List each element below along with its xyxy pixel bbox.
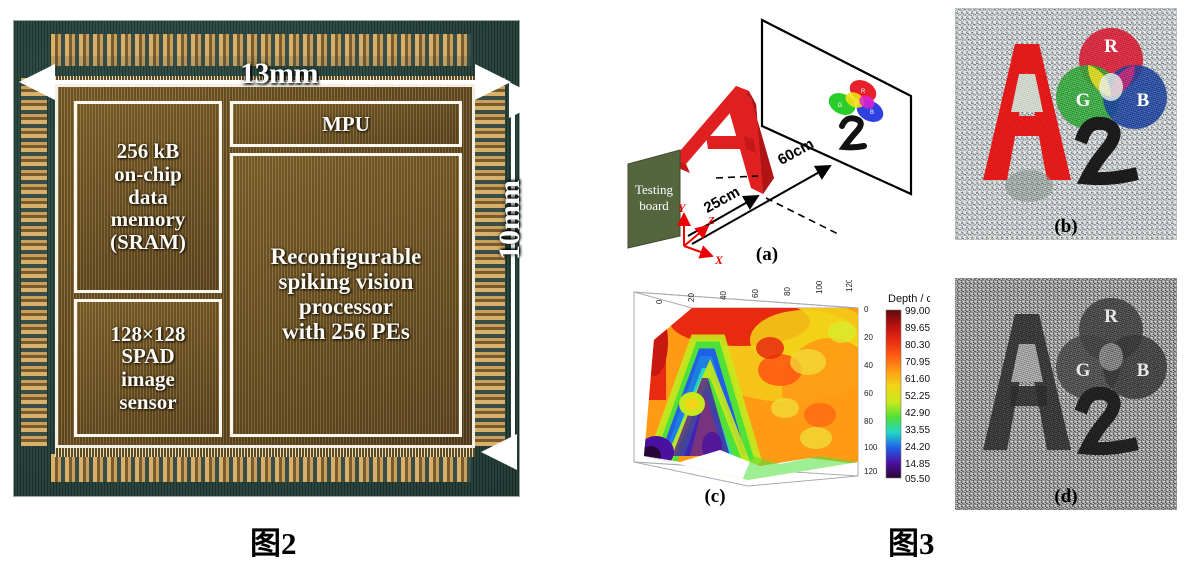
figure3-caption: 图3 <box>888 518 935 563</box>
chip-die-photo: 256 kBon-chipdatamemory(SRAM) 128×128SPA… <box>13 20 520 497</box>
panel-b-digit-2 <box>1083 123 1131 178</box>
panel-b-venn-r-label: R <box>1104 36 1118 57</box>
svg-text:40: 40 <box>719 291 728 300</box>
svg-text:60: 60 <box>864 389 873 398</box>
panel-b-label: (b) <box>955 216 1177 238</box>
testing-board-label-line1: Testing <box>635 182 674 197</box>
plot-y-axis: 0 20 40 60 80 100 120 <box>864 305 878 476</box>
depth-surface <box>638 298 885 486</box>
figure2-caption: 图2 <box>250 518 297 563</box>
svg-text:80: 80 <box>864 417 873 426</box>
svg-text:99.00: 99.00 <box>905 306 930 317</box>
panel-b-venn-diagram: R G B <box>1056 28 1167 129</box>
panel-d-grayscale-capture: R G B (d) <box>955 278 1177 510</box>
block-vision-processor-label: Reconfigurablespiking visionprocessorwit… <box>271 245 422 344</box>
svg-text:80.30: 80.30 <box>905 340 930 351</box>
block-vision-processor: Reconfigurablespiking visionprocessorwit… <box>230 153 462 437</box>
svg-text:0: 0 <box>864 305 869 314</box>
bond-pad-rail-top <box>51 34 471 56</box>
svg-text:20: 20 <box>687 293 696 302</box>
svg-text:120: 120 <box>864 467 878 476</box>
die-seal-ring-bottom <box>55 448 475 457</box>
svg-text:100: 100 <box>815 280 824 294</box>
panel-d-label: (d) <box>955 486 1177 508</box>
svg-text:40: 40 <box>864 361 873 370</box>
svg-text:33.55: 33.55 <box>905 425 930 436</box>
screen-venn-b-label: B <box>870 110 874 116</box>
svg-text:60: 60 <box>751 289 760 298</box>
bond-pad-rail-left <box>21 78 47 446</box>
panel-b-letter-a <box>983 44 1071 180</box>
block-sram-label: 256 kBon-chipdatamemory(SRAM) <box>110 140 186 253</box>
screen-venn-g-label: G <box>838 103 843 109</box>
bond-pad-rail-bottom <box>51 454 471 482</box>
die-area: 256 kBon-chipdatamemory(SRAM) 128×128SPA… <box>55 84 475 448</box>
panel-d-venn-g-label: G <box>1076 360 1091 381</box>
svg-text:05.50: 05.50 <box>905 474 930 485</box>
testing-board-label-line2: board <box>639 198 669 213</box>
panel-d-venn-b-label: B <box>1137 360 1150 381</box>
distance-25cm-label: 25cm <box>701 183 743 216</box>
panel-a-label: (a) <box>608 244 926 266</box>
panel-d-letter-a <box>983 314 1071 450</box>
panel-d-venn-r-label: R <box>1104 306 1118 327</box>
width-dimension-label: 13mm <box>240 57 318 91</box>
svg-text:14.85: 14.85 <box>905 459 930 470</box>
colorbar <box>886 310 901 478</box>
svg-text:24.20: 24.20 <box>905 442 930 453</box>
svg-text:80: 80 <box>783 287 792 296</box>
panel-d-digit-2 <box>1083 393 1131 448</box>
svg-text:100: 100 <box>864 443 878 452</box>
svg-text:20: 20 <box>864 333 873 342</box>
target-letter-a-3d <box>674 86 774 194</box>
bond-pad-rail-right <box>475 78 505 446</box>
colorbar-tick-labels: 99.00 89.65 80.30 70.95 61.60 52.25 42.9… <box>905 306 930 485</box>
axis-y-label: Y <box>678 201 687 215</box>
block-spad-label: 128×128SPADimagesensor <box>111 323 186 414</box>
svg-text:70.95: 70.95 <box>905 357 930 368</box>
svg-text:52.25: 52.25 <box>905 391 930 402</box>
panel-b-venn-b-label: B <box>1137 90 1150 111</box>
block-sram: 256 kBon-chipdatamemory(SRAM) <box>74 101 222 293</box>
block-mpu-label: MPU <box>322 113 370 136</box>
panel-b-color-capture: R G B (b) <box>955 8 1177 240</box>
block-spad-sensor: 128×128SPADimagesensor <box>74 299 222 437</box>
panel-d-venn-diagram: R G B <box>1056 298 1167 399</box>
panel-a-scene-setup: R G B Testing board 25cm 60cm <box>608 8 926 266</box>
svg-text:42.90: 42.90 <box>905 408 930 419</box>
dashed-guide-far <box>766 198 838 234</box>
screen-venn-r-label: R <box>861 89 866 95</box>
height-dimension-arrow <box>505 90 521 462</box>
panel-b-venn-g-label: G <box>1076 90 1091 111</box>
svg-text:120: 120 <box>845 280 854 292</box>
colorbar-title: Depth / cm <box>888 293 930 305</box>
height-dimension-label: 10mm <box>493 180 527 260</box>
axis-z-label: Z <box>707 215 715 227</box>
svg-text:61.60: 61.60 <box>905 374 930 385</box>
block-mpu: MPU <box>230 101 462 147</box>
svg-text:0: 0 <box>655 299 664 304</box>
svg-text:89.65: 89.65 <box>905 323 930 334</box>
panel-c-depth-map: 0 20 40 60 80 100 120 0 20 40 60 80 100 … <box>620 280 930 512</box>
panel-c-label: (c) <box>560 486 870 508</box>
